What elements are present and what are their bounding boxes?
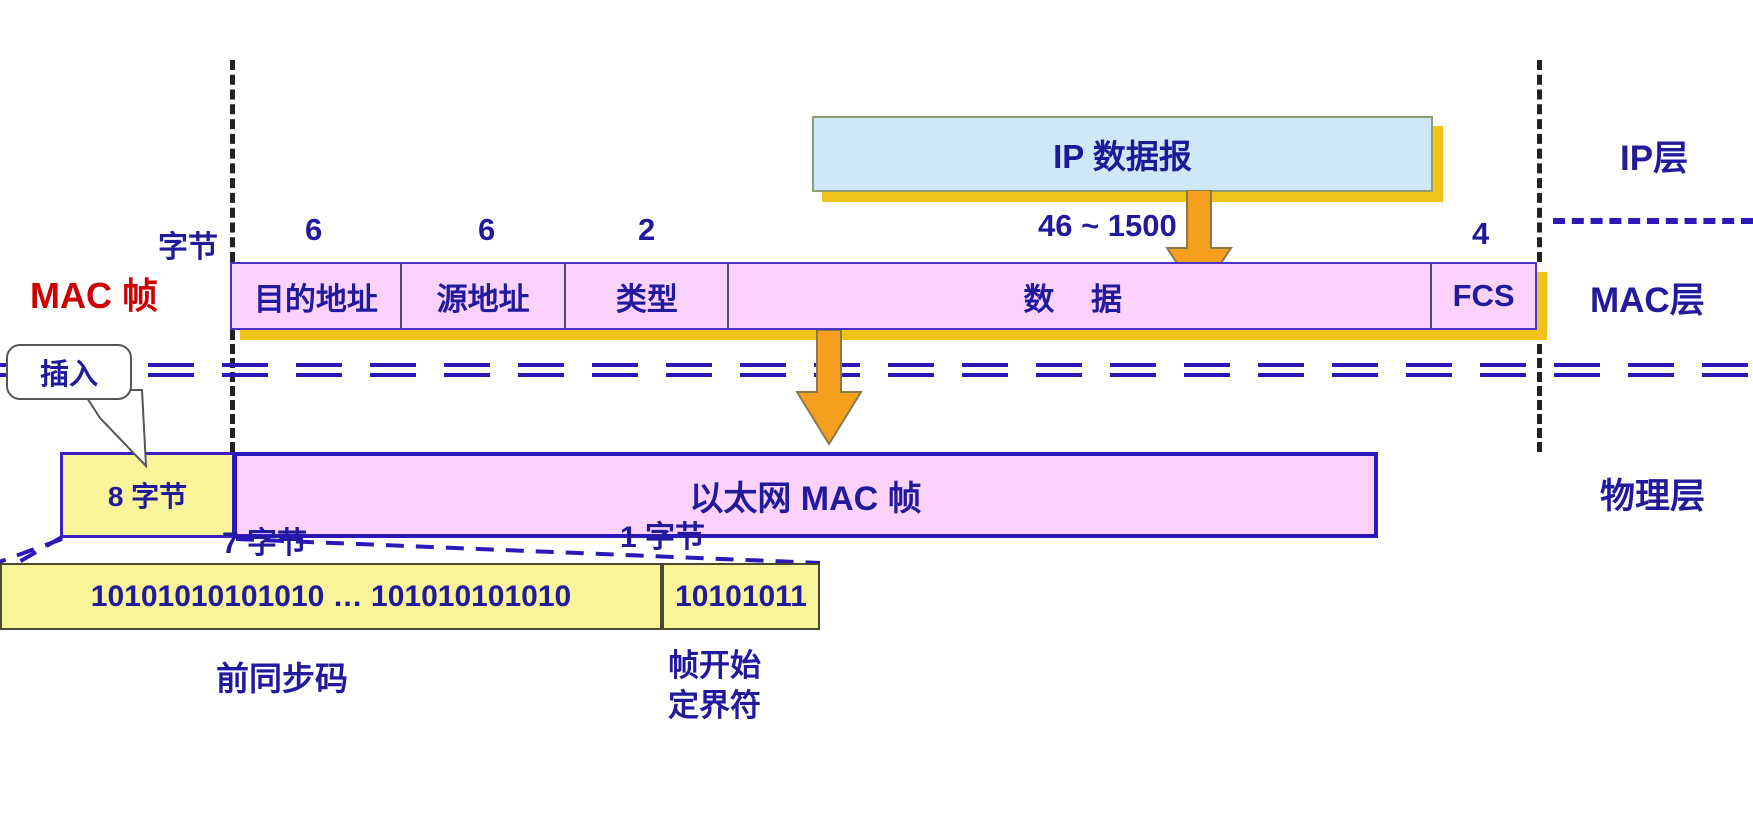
insert-callout-label: 插入 (40, 351, 98, 393)
layer-label-ip: IP层 (1620, 130, 1688, 181)
ip-datagram-box[interactable]: IP 数据报 (812, 116, 1433, 192)
mac-field-label: 数 据 (1023, 274, 1136, 319)
physical-preamble-block-label: 8 字节 (108, 475, 187, 515)
sfd-bits-value: 10101011 (675, 580, 807, 614)
preamble-bits-value: 10101010101010 … 101010101010 (91, 580, 571, 614)
mac-frame-row-label: MAC 帧 (30, 267, 158, 319)
physical-ethernet-frame-block[interactable]: 以太网 MAC 帧 (233, 452, 1378, 538)
right-boundary-dashed-line-lower (1537, 330, 1542, 452)
layer-label-physical: 物理层 (1600, 468, 1705, 519)
mac-field-source-address[interactable]: 源地址 (402, 264, 567, 328)
left-boundary-dashed-line (230, 60, 235, 262)
mac-field-type[interactable]: 类型 (566, 264, 729, 328)
mac-field-data[interactable]: 数 据 (729, 264, 1432, 328)
field-size-source-address: 6 (478, 212, 495, 248)
ip-datagram-label: IP 数据报 (1053, 130, 1192, 178)
field-size-type: 2 (638, 212, 655, 248)
insert-callout-bubble[interactable]: 插入 (6, 344, 132, 400)
byte-unit-label: 字节 (158, 222, 218, 266)
field-size-data: 46 ~ 1500 (1038, 208, 1177, 244)
mac-frame-strip: 目的地址 源地址 类型 数 据 FCS (230, 262, 1537, 330)
mac-field-label: 源地址 (437, 274, 530, 319)
mac-field-label: 目的地址 (254, 274, 378, 319)
field-size-fcs: 4 (1472, 216, 1489, 252)
mac-field-fcs[interactable]: FCS (1432, 264, 1535, 328)
mac-physical-boundary (0, 362, 1753, 378)
preamble-name-label: 前同步码 (216, 652, 348, 700)
mac-field-label: 类型 (616, 274, 678, 319)
mac-field-destination-address[interactable]: 目的地址 (232, 264, 402, 328)
preamble-seven-bytes-label: 7 字节 (222, 518, 307, 562)
diagram-canvas: IP 数据报 字节 MAC 帧 6 6 2 46 ~ 1500 4 目的地址 源… (0, 0, 1753, 817)
sfd-name-label-line1: 帧开始 (668, 640, 761, 685)
sfd-name-label-line2: 定界符 (668, 680, 761, 725)
mac-field-label: FCS (1453, 278, 1515, 314)
right-boundary-dashed-line (1537, 60, 1542, 262)
physical-ethernet-frame-label: 以太网 MAC 帧 (689, 471, 921, 520)
preamble-one-byte-label: 1 字节 (620, 512, 705, 556)
insert-callout-pointer (60, 388, 240, 478)
field-size-destination-address: 6 (305, 212, 322, 248)
mac-to-physical-arrow-icon (790, 330, 868, 448)
sfd-bits-box[interactable]: 10101011 (662, 563, 820, 630)
ip-mac-layer-divider (1553, 218, 1753, 224)
preamble-bits-box[interactable]: 10101010101010 … 101010101010 (0, 563, 662, 630)
layer-label-mac: MAC层 (1590, 272, 1705, 323)
